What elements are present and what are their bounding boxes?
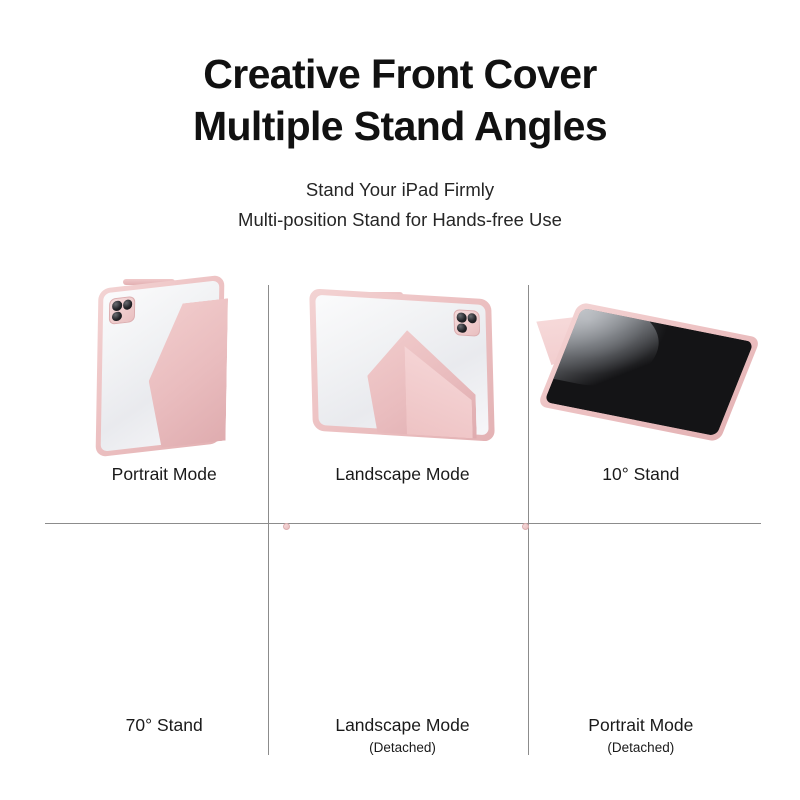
camera-lens-empty [123, 310, 133, 321]
feature-cell-10-degree-stand: 10° Stand [522, 278, 760, 523]
feature-cell-portrait-mode-detached: Portrait Mode (Detached) [522, 523, 760, 768]
page-title: Creative Front Cover Multiple Stand Angl… [0, 48, 800, 153]
tablet-body [310, 288, 496, 441]
caption-text: Landscape Mode [335, 464, 469, 486]
caption-subtext: (Detached) [335, 740, 469, 757]
camera-lens [112, 300, 122, 311]
feature-cell-70-degree-stand: 70° Stand [45, 523, 283, 768]
product-image-landscape-detached [283, 523, 521, 701]
subtitle-line-2: Multi-position Stand for Hands-free Use [0, 205, 800, 235]
subtitle-line-1: Stand Your iPad Firmly [0, 175, 800, 205]
camera-module-icon [109, 296, 135, 325]
feature-grid-row-1: Portrait Mode [45, 278, 760, 523]
product-image-portrait-detached [522, 523, 760, 701]
caption-text: Landscape Mode [335, 715, 469, 737]
caption-70-degree-stand: 70° Stand [126, 715, 203, 737]
caption-landscape-mode-detached: Landscape Mode (Detached) [335, 715, 469, 757]
product-image-70-degree-stand [45, 523, 283, 701]
page-header: Creative Front Cover Multiple Stand Angl… [0, 0, 800, 235]
camera-lens-empty [468, 323, 478, 333]
caption-portrait-mode-detached: Portrait Mode (Detached) [588, 715, 693, 757]
camera-module-icon [283, 523, 290, 530]
caption-text: Portrait Mode [588, 715, 693, 737]
caption-10-degree-stand: 10° Stand [602, 464, 679, 486]
camera-module-icon [454, 309, 481, 337]
caption-landscape-mode: Landscape Mode [335, 464, 469, 486]
kickstand-flap [173, 571, 241, 693]
ipad-case-landscape-stand-illustration [311, 294, 493, 442]
product-image-10-degree-stand [522, 278, 760, 456]
caption-subtext: (Detached) [588, 740, 693, 757]
ipad-case-10-degree-stand-illustration [536, 308, 746, 436]
caption-text: Portrait Mode [112, 464, 217, 486]
feature-cell-landscape-mode: Landscape Mode [283, 278, 521, 523]
feature-grid: Portrait Mode [45, 278, 760, 768]
product-image-portrait-mode [45, 278, 283, 456]
product-image-landscape-mode [283, 278, 521, 456]
camera-module-icon [522, 523, 529, 530]
feature-cell-portrait-mode: Portrait Mode [45, 278, 283, 523]
feature-grid-row-2: 70° Stand [45, 523, 760, 768]
caption-portrait-mode: Portrait Mode [112, 464, 217, 486]
page-subtitle: Stand Your iPad Firmly Multi-position St… [0, 175, 800, 235]
tablet-screen [544, 308, 754, 436]
ipad-case-70-degree-stand-illustration [75, 529, 253, 697]
headline-line-1: Creative Front Cover [0, 48, 800, 100]
camera-lens [123, 299, 133, 310]
camera-lens [457, 312, 467, 322]
camera-lens [457, 323, 467, 333]
caption-text: 70° Stand [126, 715, 203, 737]
caption-text: 10° Stand [602, 464, 679, 486]
tablet-body [96, 275, 225, 458]
tablet-body [537, 302, 761, 442]
feature-cell-landscape-mode-detached: Landscape Mode (Detached) [283, 523, 521, 768]
camera-lens [112, 311, 122, 322]
ipad-case-portrait-stand-illustration [89, 282, 239, 454]
headline-line-2: Multiple Stand Angles [0, 100, 800, 152]
camera-lens [467, 313, 477, 323]
